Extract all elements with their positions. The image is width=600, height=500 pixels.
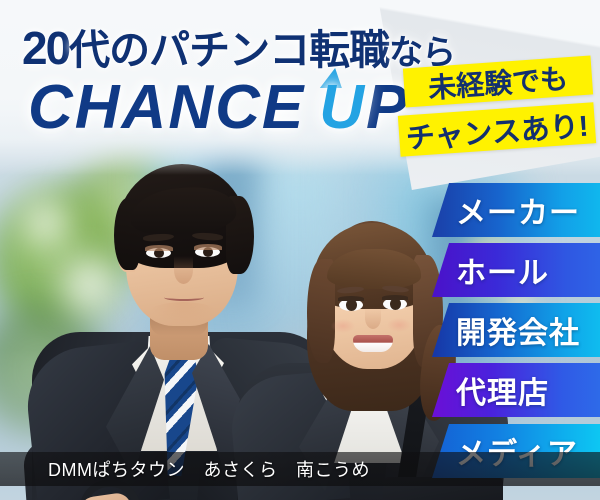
headline-age-number: 20	[22, 22, 69, 74]
credit-text: DMMぱちタウン あさくら 南こうめ	[48, 456, 370, 482]
category-item-agency[interactable]: 代理店	[432, 363, 600, 417]
category-label: 代理店	[456, 368, 549, 412]
woman-cheek-right	[387, 318, 411, 332]
category-item-developer[interactable]: 開発会社	[432, 303, 600, 357]
woman-eyelash-left	[338, 296, 364, 301]
logo-u-letter: U	[319, 73, 366, 142]
logo-up-group: UP	[319, 72, 409, 143]
woman-eyelash-right	[382, 295, 408, 300]
woman-nose	[365, 307, 381, 329]
category-label: ホール	[456, 248, 549, 292]
category-label: 開発会社	[456, 308, 580, 352]
man-mouth	[164, 294, 204, 301]
headline-line-1-main: 代のパチンコ転職	[69, 27, 389, 73]
man-nose	[174, 256, 193, 284]
credit-bar: DMMぱちタウン あさくら 南こうめ	[0, 452, 600, 486]
woman-cheek-left	[331, 319, 355, 333]
woman-hair-fringe	[327, 249, 421, 289]
promo-banner: 20代のパチンコ転職なら CHANCEUP 未経験でも チャンスあり! メーカー…	[0, 0, 600, 500]
category-item-hall[interactable]: ホール	[432, 243, 600, 297]
category-item-maker[interactable]: メーカー	[432, 183, 600, 237]
man-chin	[148, 302, 218, 324]
woman-smile	[353, 335, 393, 352]
logo-chance-up: CHANCEUP	[28, 72, 409, 143]
man-eyelid-right	[194, 244, 222, 250]
category-label: メーカー	[456, 188, 580, 232]
man-eyelid-left	[145, 245, 173, 251]
logo-chance-text: CHANCE	[28, 73, 305, 142]
headline-line-1: 20代のパチンコ転職なら	[22, 16, 455, 76]
